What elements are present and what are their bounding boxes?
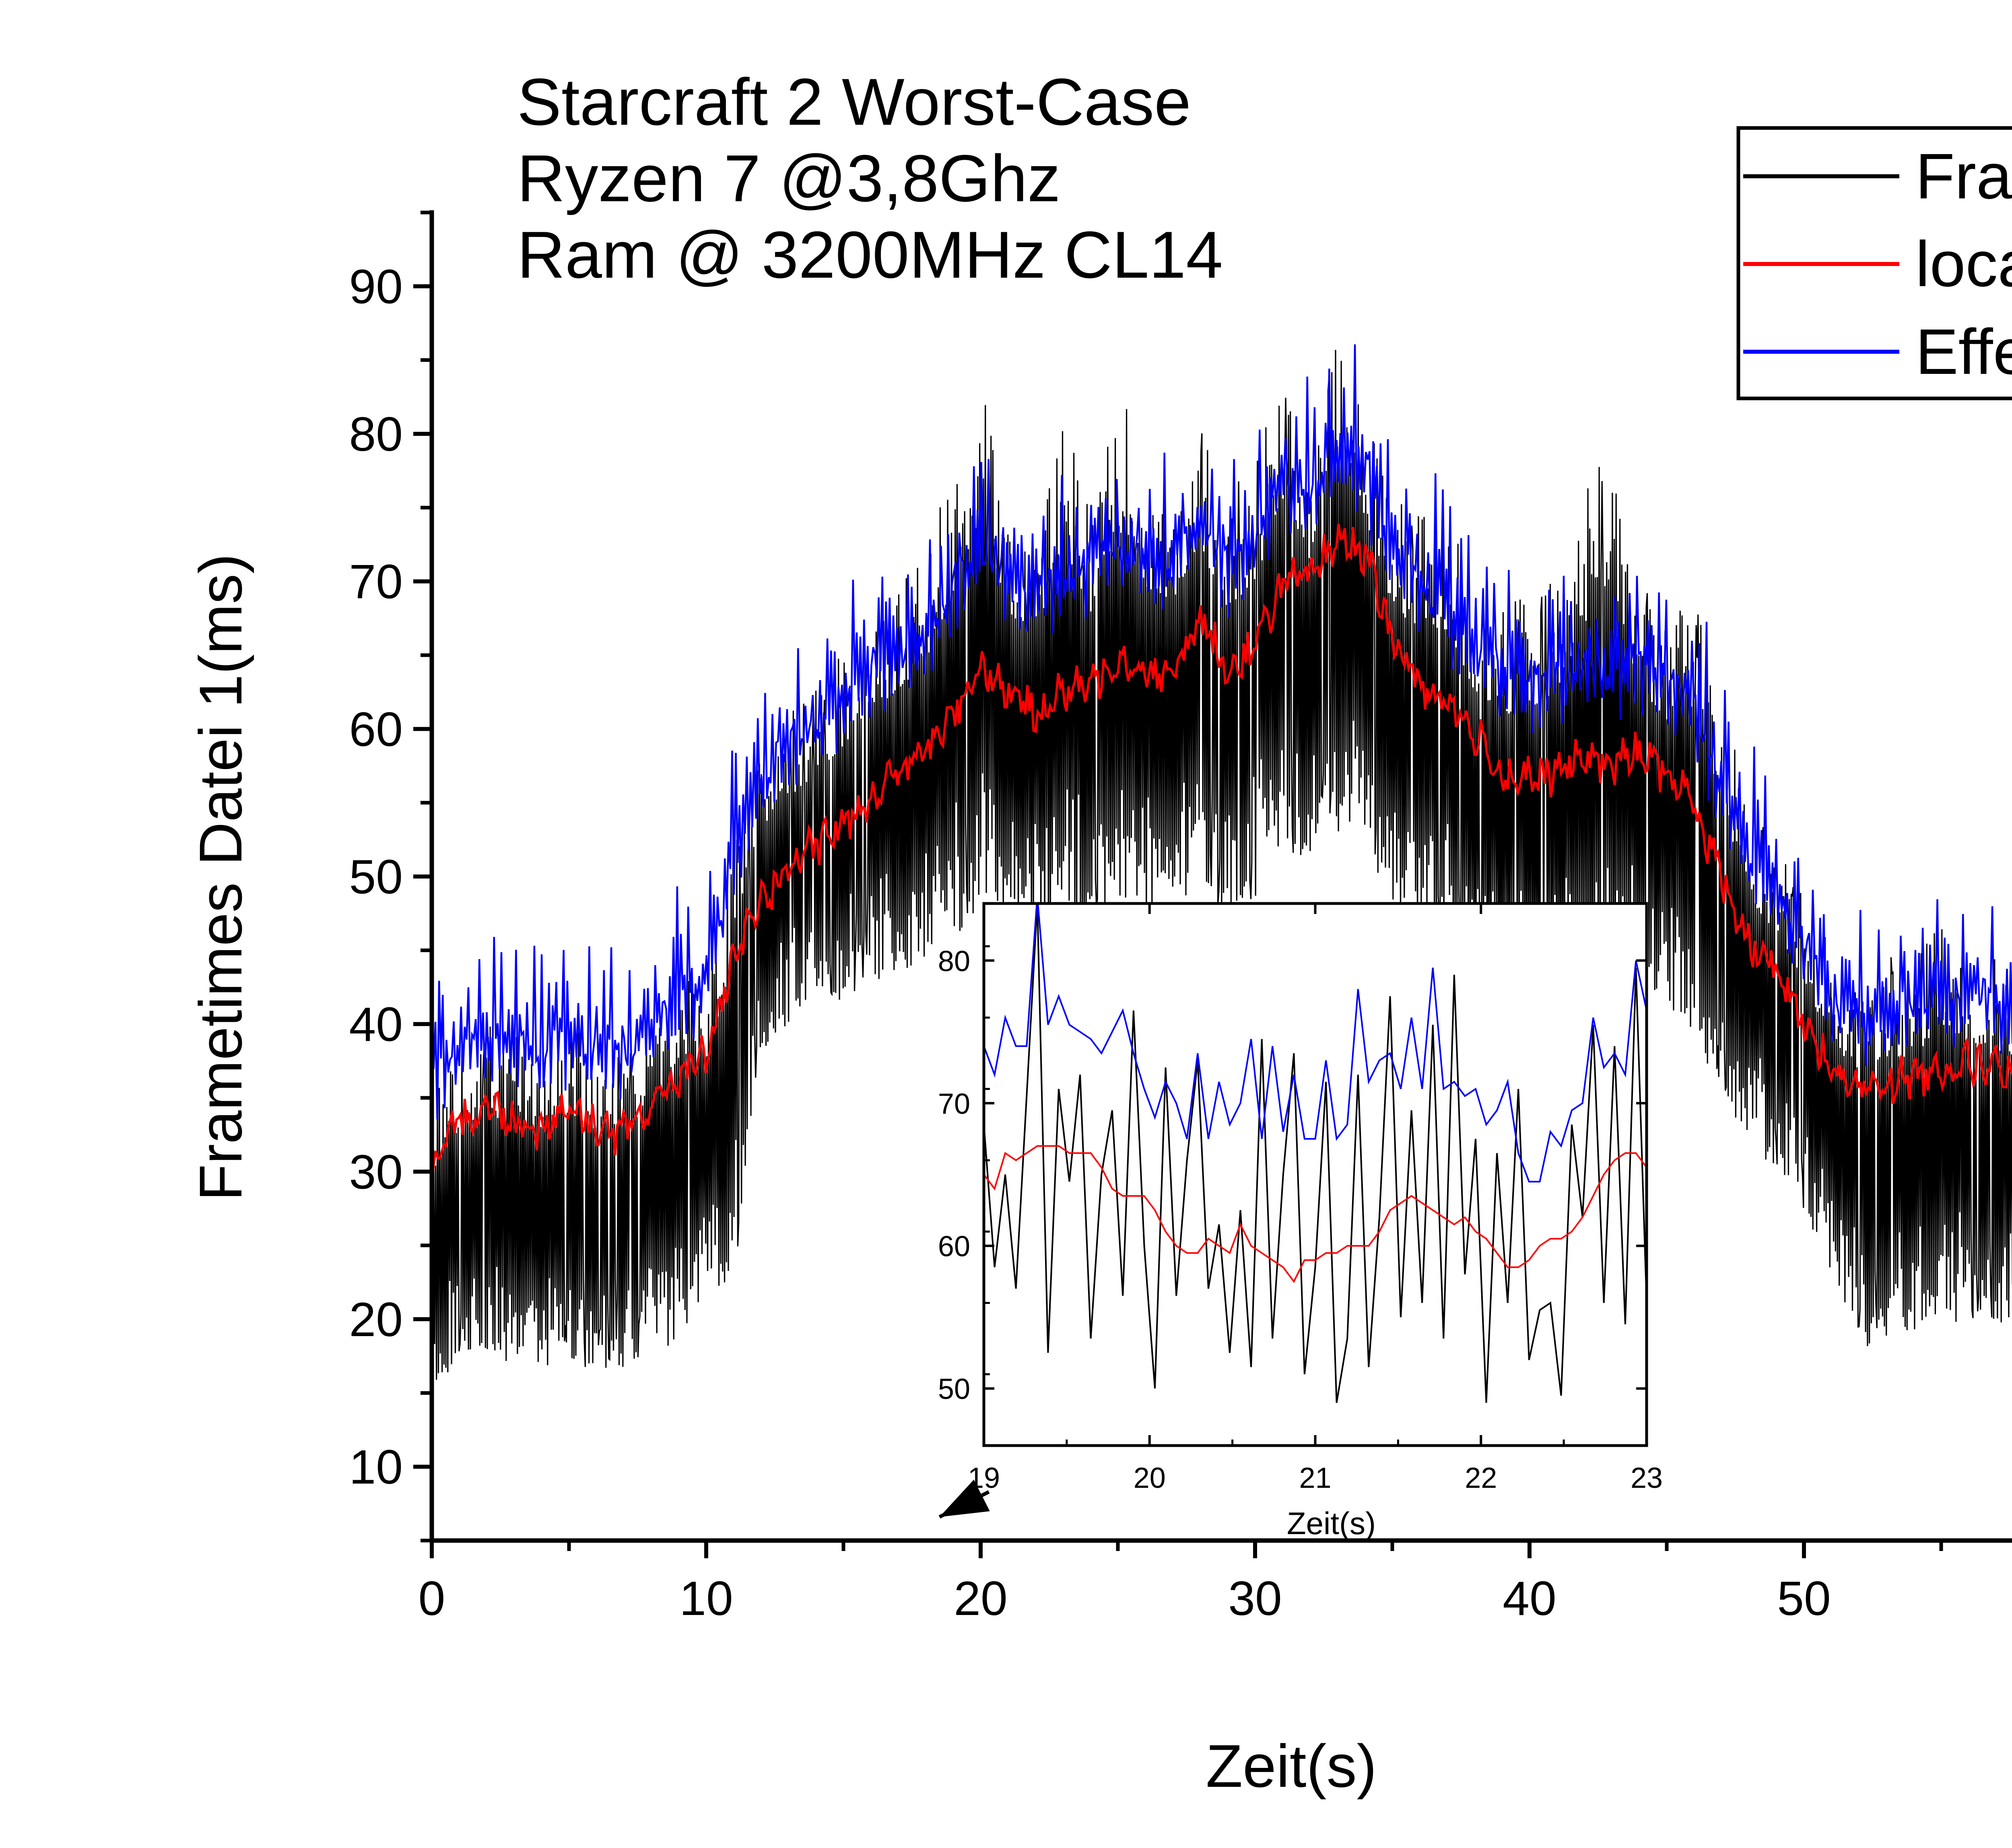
x-axis-tick-label: 30 bbox=[1228, 1572, 1282, 1625]
x-axis-tick-label: 0 bbox=[418, 1572, 445, 1625]
y-axis-tick-label: 10 bbox=[349, 1440, 403, 1494]
legend-label-1: local avg FT bbox=[1915, 228, 2012, 300]
x-axis-title: Zeit(s) bbox=[1206, 1732, 1377, 1800]
x-axis-tick-label: 20 bbox=[954, 1572, 1007, 1625]
x-axis-tick-label: 40 bbox=[1503, 1572, 1556, 1625]
y-axis-tick-label: 90 bbox=[349, 260, 403, 313]
legend-label-0: Frametimes bbox=[1915, 140, 2012, 212]
y-axis-tick-label: 30 bbox=[349, 1145, 403, 1199]
chart-title-line-2: Ram @ 3200MHz CL14 bbox=[517, 218, 1223, 292]
chart-canvas: 0102030405060102030405060708090Zeit(s)Fr… bbox=[0, 0, 2012, 1848]
y-axis-title: Frametimes Datei 1(ms) bbox=[187, 554, 254, 1201]
legend-label-2: Effective FT bbox=[1915, 316, 2012, 388]
x-axis-tick-label: 50 bbox=[1777, 1572, 1831, 1625]
chart-title-line-0: Starcraft 2 Worst-Case bbox=[517, 65, 1191, 139]
x-axis-tick-label: 10 bbox=[679, 1572, 733, 1625]
y-axis-tick-label: 50 bbox=[349, 850, 403, 904]
inset-x-tick-label: 22 bbox=[1465, 1462, 1497, 1494]
inset-y-tick-label: 80 bbox=[938, 945, 970, 978]
inset-y-tick-label: 50 bbox=[938, 1373, 970, 1405]
inset-y-tick-label: 70 bbox=[938, 1088, 970, 1120]
inset-background bbox=[984, 903, 1647, 1446]
chart-title-line-1: Ryzen 7 @3,8Ghz bbox=[517, 141, 1061, 215]
inset-x-tick-label: 23 bbox=[1631, 1462, 1663, 1494]
y-axis-tick-label: 70 bbox=[349, 555, 403, 609]
inset-y-tick-label: 60 bbox=[938, 1231, 970, 1263]
y-axis-tick-label: 20 bbox=[349, 1293, 403, 1347]
y-axis-tick-label: 60 bbox=[349, 702, 403, 756]
y-axis-tick-label: 80 bbox=[349, 407, 403, 461]
y-axis-tick-label: 40 bbox=[349, 998, 403, 1052]
inset-x-tick-label: 20 bbox=[1134, 1462, 1166, 1494]
frametime-chart: 0102030405060102030405060708090Zeit(s)Fr… bbox=[0, 0, 2012, 1848]
inset-x-axis-title: Zeit(s) bbox=[1287, 1506, 1376, 1541]
inset-x-tick-label: 21 bbox=[1299, 1462, 1331, 1494]
